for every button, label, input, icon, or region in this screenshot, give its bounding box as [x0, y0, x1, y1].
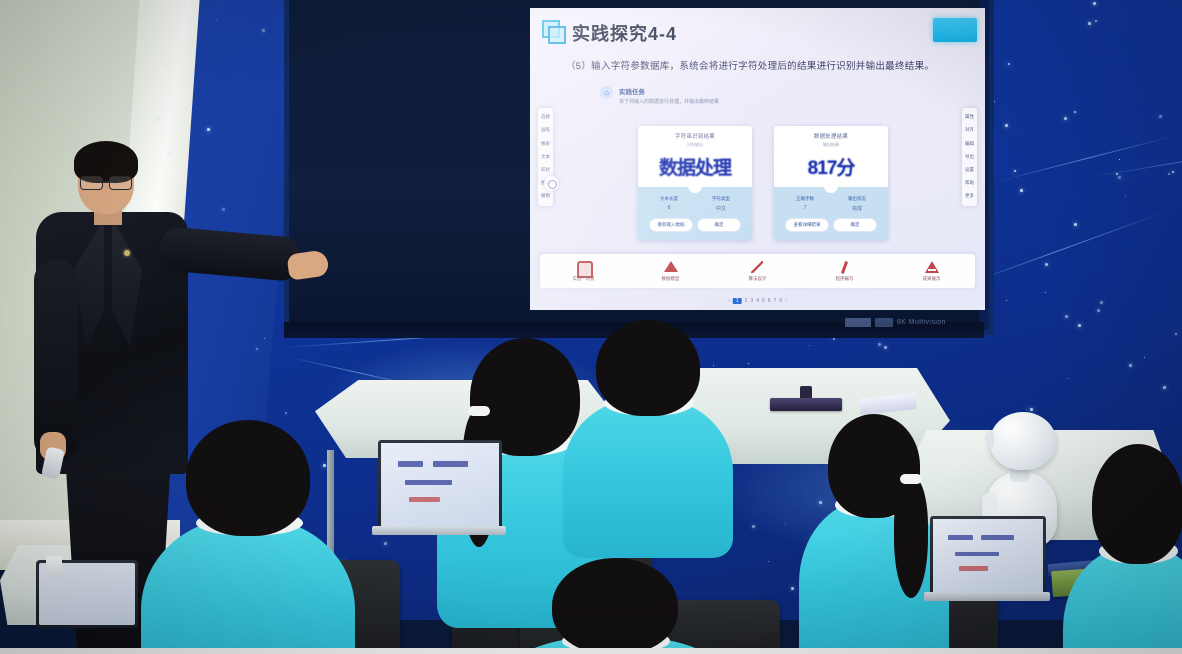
pager-page-1[interactable]: 1 — [733, 298, 742, 304]
laptop-screen — [381, 443, 499, 527]
slide-left-toolstrip[interactable]: 选择画笔橡皮文本形状图层撤销 — [538, 108, 553, 206]
left-tool-4[interactable]: 形状 — [541, 168, 550, 173]
toolbar-item-3[interactable]: 程序编写 — [817, 261, 873, 282]
result-field-label-0-0: 文本长度 — [643, 196, 695, 202]
slide-action-button[interactable] — [933, 18, 977, 42]
laptop-lid — [378, 440, 502, 530]
result-card-0: 字符串识别结果 识别输出 数据处理 文本长度 8 字符类型 中文 — [638, 126, 752, 240]
toolbar-item-2[interactable]: 算法设计 — [730, 261, 786, 282]
pager-page-4[interactable]: 4 — [756, 298, 759, 304]
slide-prompt-text: （5）输入字符参数据库，系统会将进行字符处理后的结果进行识别并输出最终结果。 — [566, 60, 963, 74]
laptop-base — [924, 592, 1050, 601]
left-tool-3[interactable]: 文本 — [541, 155, 550, 160]
right-tool-5[interactable]: 帮助 — [965, 181, 974, 186]
slide-header: 实践探究4-4 — [530, 8, 985, 54]
slide-task-note: ⌂ 实践任务 将下列输入的数据进行处理，并输出最终结果 — [600, 86, 719, 105]
toolbar-label-4: 成果展示 — [923, 276, 941, 282]
result-card-1: 数据处理结果 输出结果 817分 正确字数 7 输出状态 完成 — [774, 126, 888, 240]
result-field-label-1-1: 输出状态 — [831, 196, 883, 202]
student-head — [552, 558, 678, 654]
result-card-bottom-0: 文本长度 8 字符类型 中文 重新输入数据确定 — [638, 187, 752, 240]
right-tool-0[interactable]: 属性 — [965, 115, 974, 120]
pager-page-5[interactable]: 5 — [762, 298, 765, 304]
slide-pagination[interactable]: ‹12345678› — [728, 298, 787, 304]
result-card-subheader-0: 识别输出 — [642, 142, 748, 148]
result-field-value-0-0: 8 — [643, 205, 695, 211]
right-tool-1[interactable]: 对齐 — [965, 128, 974, 133]
right-tool-2[interactable]: 编辑 — [965, 142, 974, 147]
result-field-0-0: 文本长度 8 — [643, 196, 695, 212]
left-tool-2[interactable]: 橡皮 — [541, 142, 550, 147]
left-tool-1[interactable]: 画笔 — [541, 128, 550, 133]
brand-text: 8K Multivision — [897, 319, 946, 326]
right-tool-6[interactable]: 更多 — [965, 194, 974, 199]
result-field-label-0-1: 字符类型 — [695, 196, 747, 202]
pager-page-2[interactable]: 2 — [745, 298, 748, 304]
pyramid-icon — [925, 261, 938, 274]
student-head — [186, 420, 310, 536]
robot-ear — [985, 432, 994, 447]
door-icon — [577, 261, 590, 274]
brand-mark-1 — [845, 318, 871, 327]
result-card-value-0: 数据处理 — [642, 153, 748, 180]
result-card-header-0: 字符串识别结果 — [642, 132, 748, 140]
slide-title: 实践探究4-4 — [572, 20, 677, 46]
student-head — [1092, 444, 1182, 564]
student-head — [596, 320, 700, 416]
right-tool-3[interactable]: 导出 — [965, 155, 974, 160]
pager-page-7[interactable]: 7 — [774, 298, 777, 304]
result-field-value-1-0: 7 — [779, 205, 831, 211]
display-brand-logo: 8K Multivision — [845, 316, 946, 328]
toolbar-label-0: 实验 · 场景 — [573, 276, 595, 282]
right-tool-4[interactable]: 设置 — [965, 168, 974, 173]
result-card-button-0-0[interactable]: 重新输入数据 — [649, 218, 693, 232]
toolbar-item-0[interactable]: 实验 · 场景 — [556, 261, 612, 282]
home-icon: ⌂ — [600, 86, 613, 99]
result-card-button-1-0[interactable]: 查看详细结果 — [785, 218, 829, 232]
slide-right-toolstrip[interactable]: 属性对齐编辑导出设置帮助更多 — [962, 108, 977, 206]
classroom-scene: 8K Multivision 实践探究4-4 （5）输入字符参数据库，系统会将进… — [0, 0, 1182, 654]
desk-leg — [327, 450, 334, 558]
left-tool-0[interactable]: 选择 — [541, 115, 550, 120]
brush-icon — [838, 261, 851, 274]
result-cards-container: 字符串识别结果 识别输出 数据处理 文本长度 8 字符类型 中文 — [638, 126, 888, 240]
brand-mark-2 — [875, 318, 893, 327]
task-note-title: 实践任务 — [619, 86, 719, 96]
result-card-button-0-1[interactable]: 确定 — [697, 218, 741, 232]
result-field-1-1: 输出状态 完成 — [831, 196, 883, 212]
toolbar-label-2: 算法设计 — [749, 276, 767, 282]
toolbar-label-1: 数据模型 — [662, 276, 680, 282]
result-card-subheader-1: 输出结果 — [778, 142, 884, 148]
pager-page-3[interactable]: 3 — [750, 298, 753, 304]
result-card-value-1: 817分 — [778, 153, 884, 180]
task-note-body: 将下列输入的数据进行处理，并输出最终结果 — [619, 98, 719, 105]
laptop-base — [372, 526, 506, 535]
stack-icon — [664, 261, 677, 274]
teacher-lapel-badge — [124, 250, 130, 256]
slide-bottom-toolbar[interactable]: 实验 · 场景 数据模型 算法设计 程序编写 成果展示 — [540, 254, 975, 288]
pager-prev[interactable]: ‹ — [728, 298, 730, 304]
result-card-top-0: 字符串识别结果 识别输出 数据处理 — [638, 126, 752, 187]
result-field-label-1-0: 正确字数 — [779, 196, 831, 202]
drinking-cup — [46, 556, 62, 578]
pager-page-8[interactable]: 8 — [779, 298, 782, 304]
student-ponytail — [894, 478, 928, 598]
laptop-lid — [930, 516, 1046, 596]
result-card-bottom-1: 正确字数 7 输出状态 完成 查看详细结果确定 — [774, 187, 888, 240]
presentation-slide[interactable]: 实践探究4-4 （5）输入字符参数据库，系统会将进行字符处理后的结果进行识别并输… — [530, 8, 985, 310]
result-field-0-1: 字符类型 中文 — [695, 196, 747, 212]
student-uniform — [563, 398, 733, 558]
pen-icon — [751, 261, 764, 274]
teacher-left-arm — [34, 260, 78, 460]
hair-tie — [900, 474, 922, 484]
record-circle-button[interactable] — [544, 176, 559, 191]
pager-next[interactable]: › — [785, 298, 787, 304]
left-tool-6[interactable]: 撤销 — [541, 194, 550, 199]
result-field-value-0-1: 中文 — [695, 205, 747, 212]
laptop-screen — [933, 519, 1043, 593]
result-card-top-1: 数据处理结果 输出结果 817分 — [774, 126, 888, 187]
result-field-value-1-1: 完成 — [831, 205, 883, 212]
glasses-icon — [80, 176, 132, 189]
toolbar-item-1[interactable]: 数据模型 — [643, 261, 699, 282]
toolbar-item-4[interactable]: 成果展示 — [904, 261, 960, 282]
wireless-keyboard — [770, 398, 842, 411]
result-field-1-0: 正确字数 7 — [779, 196, 831, 212]
robot-head — [990, 412, 1056, 470]
result-card-button-1-1[interactable]: 确定 — [833, 218, 877, 232]
hair-tie — [468, 406, 490, 416]
overlap-squares-logo — [542, 20, 564, 42]
toolbar-label-3: 程序编写 — [836, 276, 854, 282]
result-card-header-1: 数据处理结果 — [778, 132, 884, 140]
frame-bottom-border — [0, 648, 1182, 654]
pager-page-6[interactable]: 6 — [768, 298, 771, 304]
